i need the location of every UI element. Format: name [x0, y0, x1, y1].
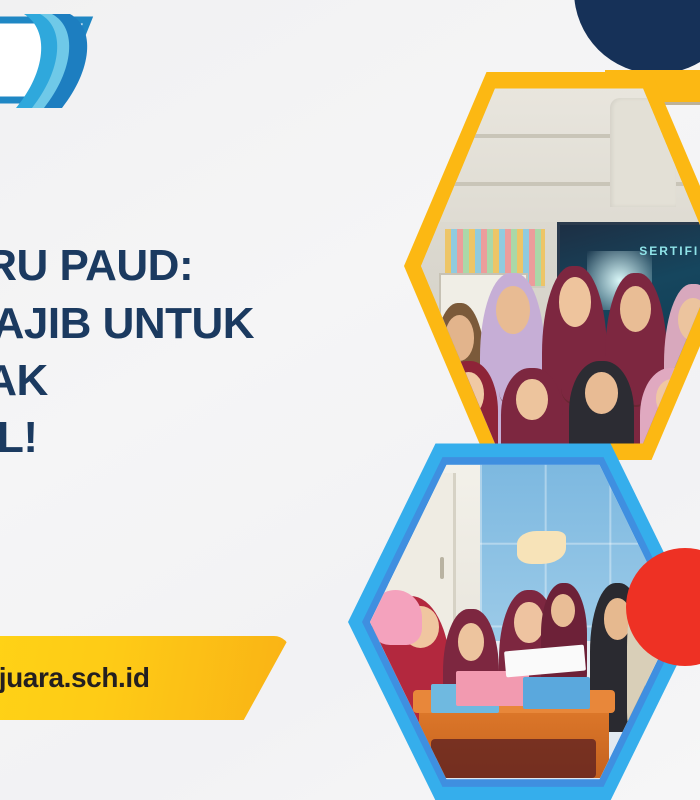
- photo-hexagon-top: SERTIFI: [404, 66, 700, 466]
- brand-logo: [0, 12, 128, 108]
- navy-circle-decoration: [574, 0, 700, 74]
- photo-under-table-shadow: [431, 739, 596, 778]
- url-ribbon: gjuara.sch.id: [0, 636, 290, 720]
- photo-wall-paper: [517, 531, 566, 563]
- person: [501, 368, 563, 449]
- page-title: URU PAUD: WAJIB UNTUK NAK IAL!: [0, 237, 434, 466]
- person: [569, 361, 634, 449]
- photo-door-handle: [440, 557, 444, 579]
- poster-canvas: URU PAUD: WAJIB UNTUK NAK IAL! gjuara.sc…: [0, 0, 700, 800]
- projector-screen-text: SERTIFI: [639, 244, 699, 258]
- photo-book-blue-2: [523, 677, 590, 709]
- website-url: gjuara.sch.id: [0, 662, 150, 694]
